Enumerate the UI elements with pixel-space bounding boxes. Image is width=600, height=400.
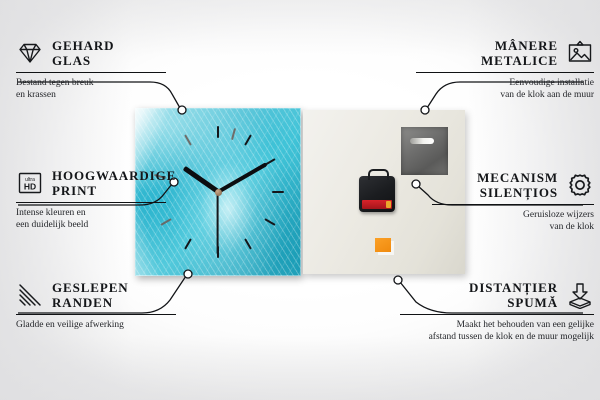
callout-description: Maakt het behouden van een gelijke afsta…: [400, 319, 594, 343]
callout-title: GEHARD GLAS: [52, 38, 114, 69]
callout-description: Intense kleuren en een duidelijk beeld: [16, 207, 166, 231]
callout-title: MECANISM SILENȚIOS: [477, 170, 558, 201]
callout-description: Bestand tegen breuk en krassen: [16, 77, 166, 101]
callout-mecanism-silentios: MECANISM SILENȚIOS Geruisloze wijzers va…: [432, 170, 594, 233]
clock-mechanism: [359, 176, 395, 212]
clock-hour-hand: [182, 166, 219, 194]
callout-rule: [16, 72, 166, 73]
clock-tick: [217, 126, 219, 138]
battery: [362, 200, 392, 209]
gear-icon: [566, 171, 594, 199]
callout-title: MÂNERE METALICE: [481, 38, 558, 69]
product-image: [135, 108, 465, 276]
callout-gehard-glas: GEHARD GLAS Bestand tegen breuk en krass…: [16, 38, 166, 101]
clock-center-cap: [215, 189, 222, 196]
metal-hanger-plate: [401, 127, 448, 175]
callout-rule: [432, 204, 594, 205]
svg-text:HD: HD: [24, 182, 36, 192]
clock-tick: [264, 218, 275, 226]
callout-distantier-spuma: DISTANȚIER SPUMĂ Maakt het behouden van …: [400, 280, 594, 343]
clock-tick: [231, 128, 236, 140]
callout-description: Eenvoudige installatie van de klok aan d…: [416, 77, 594, 101]
callout-rule: [16, 202, 166, 203]
clock-second-hand: [217, 192, 219, 254]
beveled-edge-icon: [16, 281, 44, 309]
callout-title: GESLEPEN RANDEN: [52, 280, 129, 311]
clock-tick: [244, 238, 252, 249]
clock-tick: [184, 134, 192, 145]
callout-rule: [16, 314, 176, 315]
foam-spacer: [375, 238, 391, 252]
callout-description: Geruisloze wijzers van de klok: [432, 209, 594, 233]
clock-tick: [272, 191, 284, 193]
ultra-hd-icon: ultra HD: [16, 169, 44, 197]
callout-manere-metalice: MÂNERE METALICE Eenvoudige installatie v…: [416, 38, 594, 101]
clock-tick: [244, 134, 252, 145]
clock-minute-hand: [217, 162, 267, 193]
clock-tick: [184, 238, 192, 249]
callout-description: Gladde en veilige afwerking: [16, 319, 176, 331]
foam-spacer-icon: [566, 281, 594, 309]
callout-hoogwaardige-print: ultra HD HOOGWAARDIGE PRINT Intense kleu…: [16, 168, 166, 231]
diamond-icon: [16, 39, 44, 67]
infographic-canvas: GEHARD GLAS Bestand tegen breuk en krass…: [0, 0, 600, 400]
callout-title: DISTANȚIER SPUMĂ: [469, 280, 558, 311]
callout-title: HOOGWAARDIGE PRINT: [52, 168, 176, 199]
framed-picture-icon: [566, 39, 594, 67]
callout-rule: [400, 314, 594, 315]
callout-rule: [416, 72, 594, 73]
callout-geslepen-randen: GESLEPEN RANDEN Gladde en veilige afwerk…: [16, 280, 176, 331]
